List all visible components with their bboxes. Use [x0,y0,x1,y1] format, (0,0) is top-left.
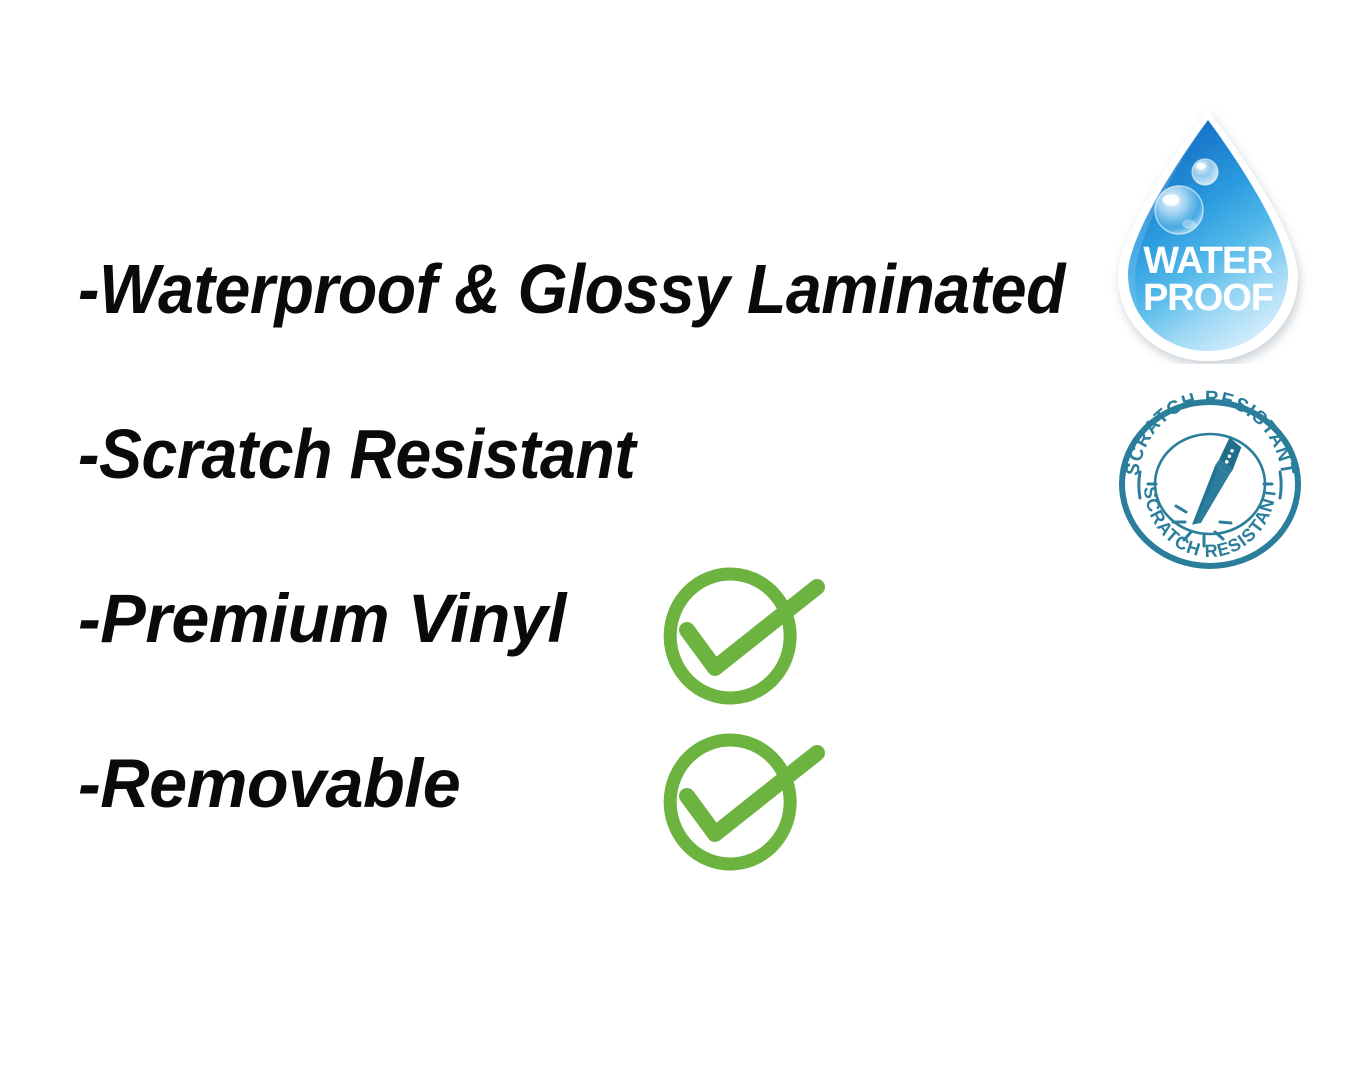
feature-label-premium-vinyl: -Premium Vinyl [78,576,566,662]
feature-row: -Scratch Resistant [78,411,1118,576]
scratch-resistant-badge: SCRATCH RESISTANT SCRATCH RESISTANT [1112,386,1308,570]
check-circle-1 [645,556,835,714]
check-circle-2 [645,722,835,880]
feature-row: -Removable [78,741,1118,906]
check-circle-icon-tick [687,587,817,668]
feature-list: -Waterproof & Glossy Laminated -Scratch … [78,246,1118,906]
poster-canvas: -Waterproof & Glossy Laminated -Scratch … [0,0,1359,1080]
waterproof-badge: WATER PROOF [1101,106,1315,364]
water-bubble-small-icon [1192,159,1218,185]
knife-icon [1192,434,1243,532]
feature-label-waterproof-glossy-laminated: -Waterproof & Glossy Laminated [78,246,1065,332]
feature-label-removable: -Removable [78,741,460,827]
stamp-text-top: SCRATCH RESISTANT [1122,388,1297,477]
waterproof-line1: WATER [1143,240,1273,282]
feature-row: -Waterproof & Glossy Laminated [78,246,1118,411]
feature-row: -Premium Vinyl [78,576,1118,741]
water-bubble-large-icon [1155,186,1203,234]
waterproof-line2: PROOF [1143,277,1273,319]
check-circle-icon-tick [687,753,817,834]
feature-label-scratch-resistant: -Scratch Resistant [78,411,635,497]
